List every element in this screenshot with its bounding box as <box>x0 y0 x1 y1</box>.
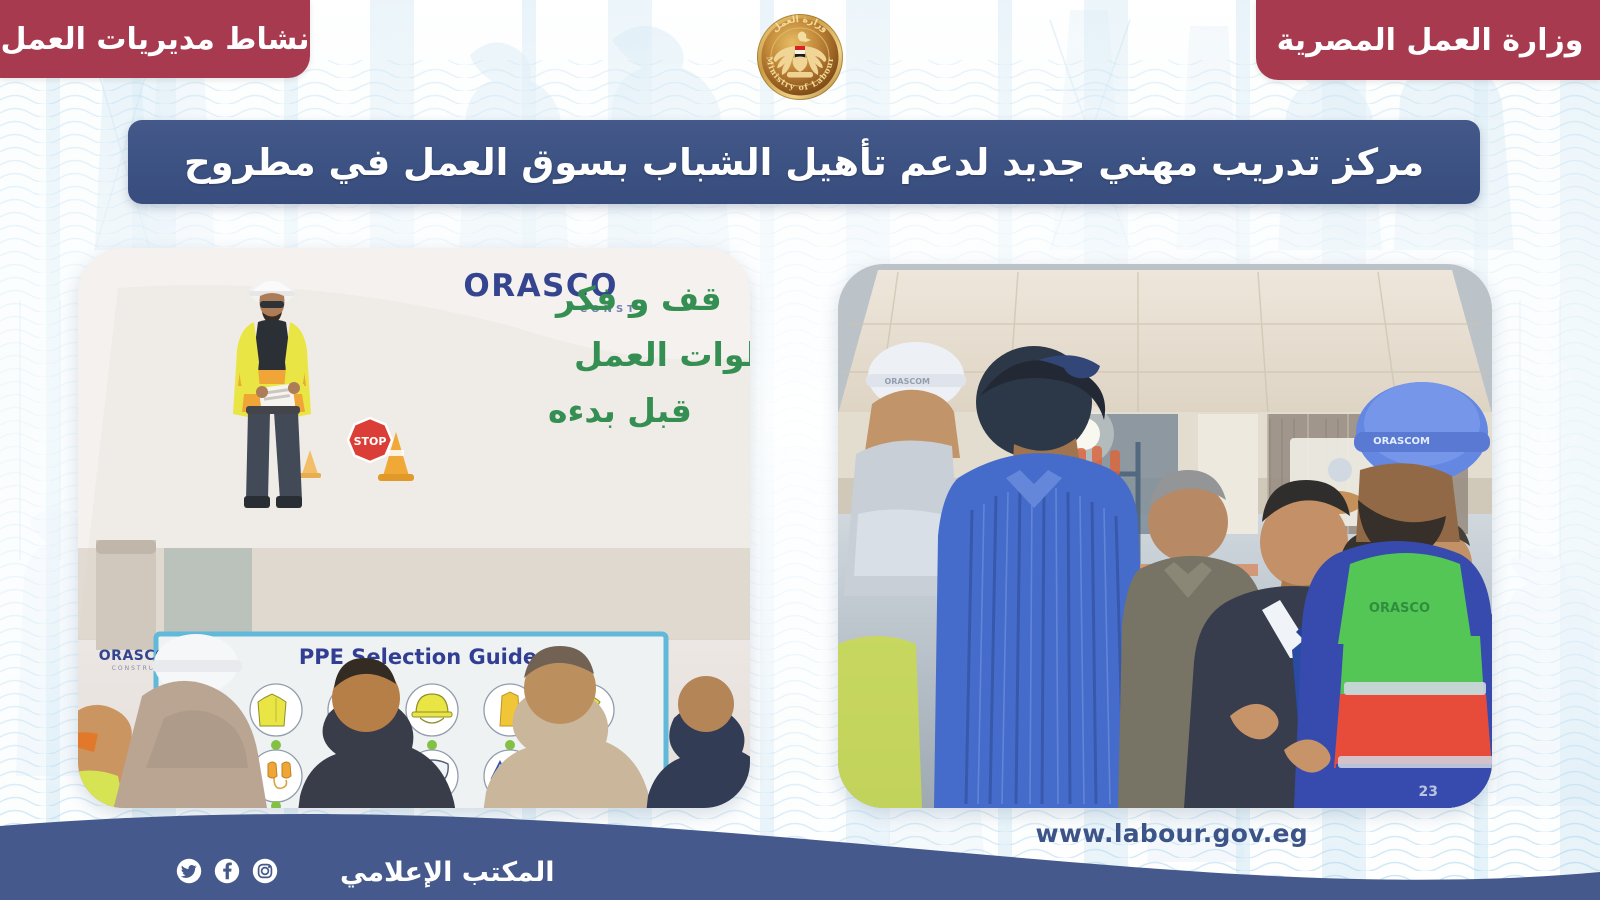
facebook-icon[interactable] <box>214 858 240 884</box>
headline-banner: مركز تدريب مهني جديد لدعم تأهيل الشباب ب… <box>128 120 1480 204</box>
media-office-label: المكتب الإعلامي <box>340 857 555 888</box>
instagram-icon[interactable] <box>252 858 278 884</box>
photo-site-visit: ORASCOM <box>838 264 1492 808</box>
ministry-name-label: وزارة العمل المصرية <box>1277 23 1584 58</box>
twitter-icon[interactable] <box>176 858 202 884</box>
ministry-name-badge: وزارة العمل المصرية <box>1256 0 1600 80</box>
poster-canvas: وزارة العمل المصرية نشاط مديريات العمل <box>0 0 1600 900</box>
section-name-label: نشاط مديريات العمل <box>1 22 310 57</box>
page-title: مركز تدريب مهني جديد لدعم تأهيل الشباب ب… <box>158 141 1450 184</box>
section-name-badge: نشاط مديريات العمل <box>0 0 310 78</box>
ministry-of-labour-seal-icon: وزارة العمل Ministry of Labour <box>746 2 854 110</box>
photo-safety-banner: ORASCO CONST قف و فكر في خطوات العمل قبل… <box>78 248 750 808</box>
social-links <box>176 858 278 884</box>
website-url[interactable]: www.labour.gov.eg <box>1035 819 1308 848</box>
